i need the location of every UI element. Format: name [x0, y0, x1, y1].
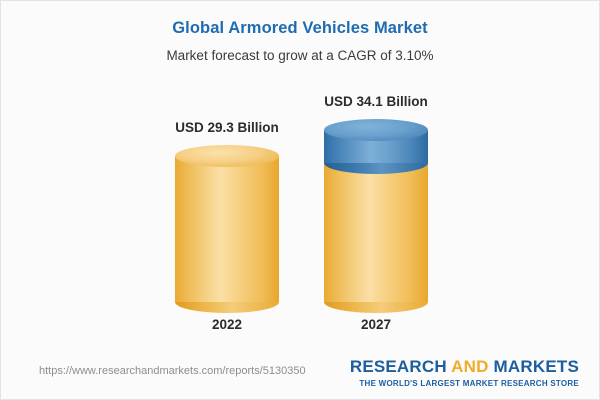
x-axis-label-2027: 2027: [361, 317, 391, 332]
chart-footer: https://www.researchandmarkets.com/repor…: [1, 351, 600, 399]
source-url-link[interactable]: https://www.researchandmarkets.com/repor…: [39, 365, 306, 377]
logo-wordmark: RESEARCH AND MARKETS: [350, 357, 579, 377]
x-axis-label-2022: 2022: [212, 317, 242, 332]
cylinder-top-cap-2022: [175, 145, 279, 167]
bar-value-label-2027: USD 34.1 Billion: [324, 94, 428, 109]
cylinder-body-base-2027: [324, 163, 428, 302]
logo-word-markets: MARKETS: [494, 357, 579, 376]
research-and-markets-logo[interactable]: RESEARCH AND MARKETS THE WORLD'S LARGEST…: [350, 357, 579, 388]
logo-word-and: AND: [451, 357, 488, 376]
chart-card: Global Armored Vehicles Market Market fo…: [0, 0, 600, 400]
cylinder-top-cap-2027: [324, 119, 428, 141]
cylinder-body-2022: [175, 156, 279, 302]
logo-tagline: THE WORLD'S LARGEST MARKET RESEARCH STOR…: [350, 379, 579, 388]
bar-value-label-2022: USD 29.3 Billion: [175, 120, 279, 135]
logo-word-research: RESEARCH: [350, 357, 447, 376]
bar-chart-plot: USD 29.3 Billion 2022 USD 34.1 Billion: [1, 1, 600, 351]
